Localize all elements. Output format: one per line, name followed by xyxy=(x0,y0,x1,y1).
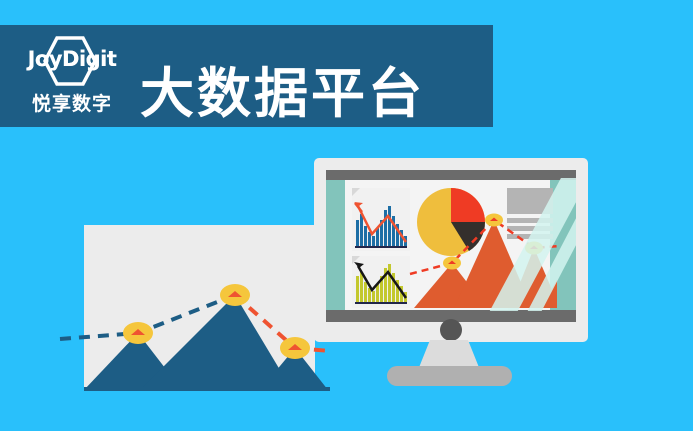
header-banner: JoyDigit 悦享数字 大数据平台 xyxy=(0,25,493,127)
monitor-base xyxy=(387,366,512,386)
bar-chart-card-olive xyxy=(352,256,410,308)
mountain-chart-art xyxy=(30,215,330,395)
area-trend-marker xyxy=(485,214,503,227)
home-button xyxy=(440,319,462,341)
page-title: 大数据平台 xyxy=(140,67,425,121)
brand-logo: JoyDigit 悦享数字 xyxy=(16,33,128,121)
screen-side-band-left xyxy=(326,180,345,310)
trend-marker xyxy=(123,322,153,344)
pie-chart xyxy=(417,188,485,256)
trend-marker xyxy=(220,284,250,306)
page-root: JoyDigit 悦享数字 大数据平台 xyxy=(0,0,693,431)
logo-wordmark: JoyDigit xyxy=(16,47,128,71)
area-trend-marker xyxy=(443,257,461,270)
trend-marker xyxy=(280,337,310,359)
bar-chart-card-blue xyxy=(352,188,410,251)
logo-subtitle: 悦享数字 xyxy=(16,89,128,116)
